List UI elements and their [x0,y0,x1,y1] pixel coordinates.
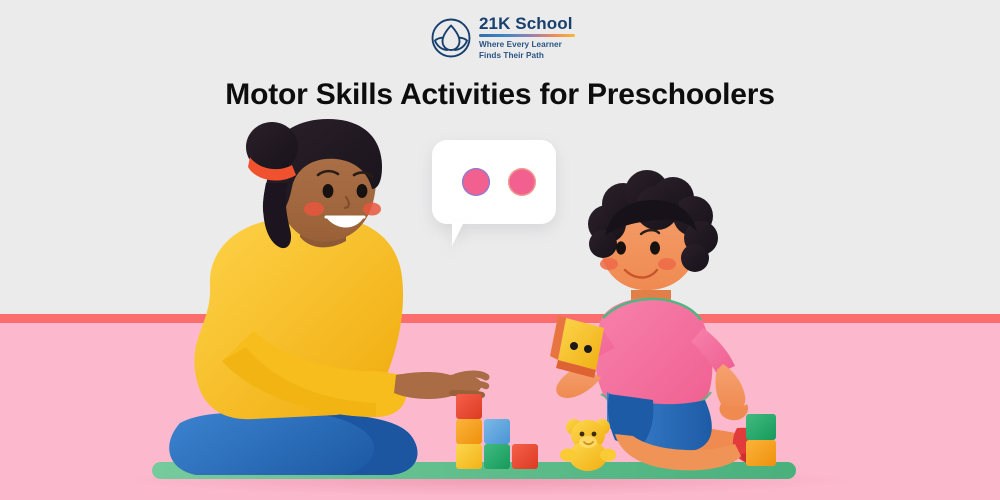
infographic-banner: 21K School Where Every Learner Finds The… [0,0,1000,500]
block-stack-right [742,412,802,474]
brand-tagline-line-1: Where Every Learner [479,40,575,51]
yellow-teddy-bear-toy [560,415,620,473]
block-yellow-bot [456,444,482,469]
brand-logo-text: 21K School Where Every Learner Finds The… [479,15,575,61]
block-red-single [512,444,538,469]
held-yellow-block [548,312,618,384]
brand-name: 21K School [479,15,575,32]
block-green-bot [484,444,510,469]
brand-tagline-line-2: Finds Their Path [479,51,575,62]
brand-tagline: Where Every Learner Finds Their Path [479,40,575,61]
brand-logo[interactable]: 21K School Where Every Learner Finds The… [430,14,580,62]
page-title: Motor Skills Activities for Preschoolers [0,78,1000,112]
block-orange-right-bottom [746,440,776,466]
block-tower-center [452,392,572,472]
block-orange-mid [456,419,482,444]
brand-underline [479,34,575,37]
block-green-right-top [746,414,776,440]
lotus-circle-mark-icon [430,17,472,59]
block-blue-top [484,419,510,444]
bubble-dot-right [508,168,536,196]
block-red-top [456,394,482,419]
